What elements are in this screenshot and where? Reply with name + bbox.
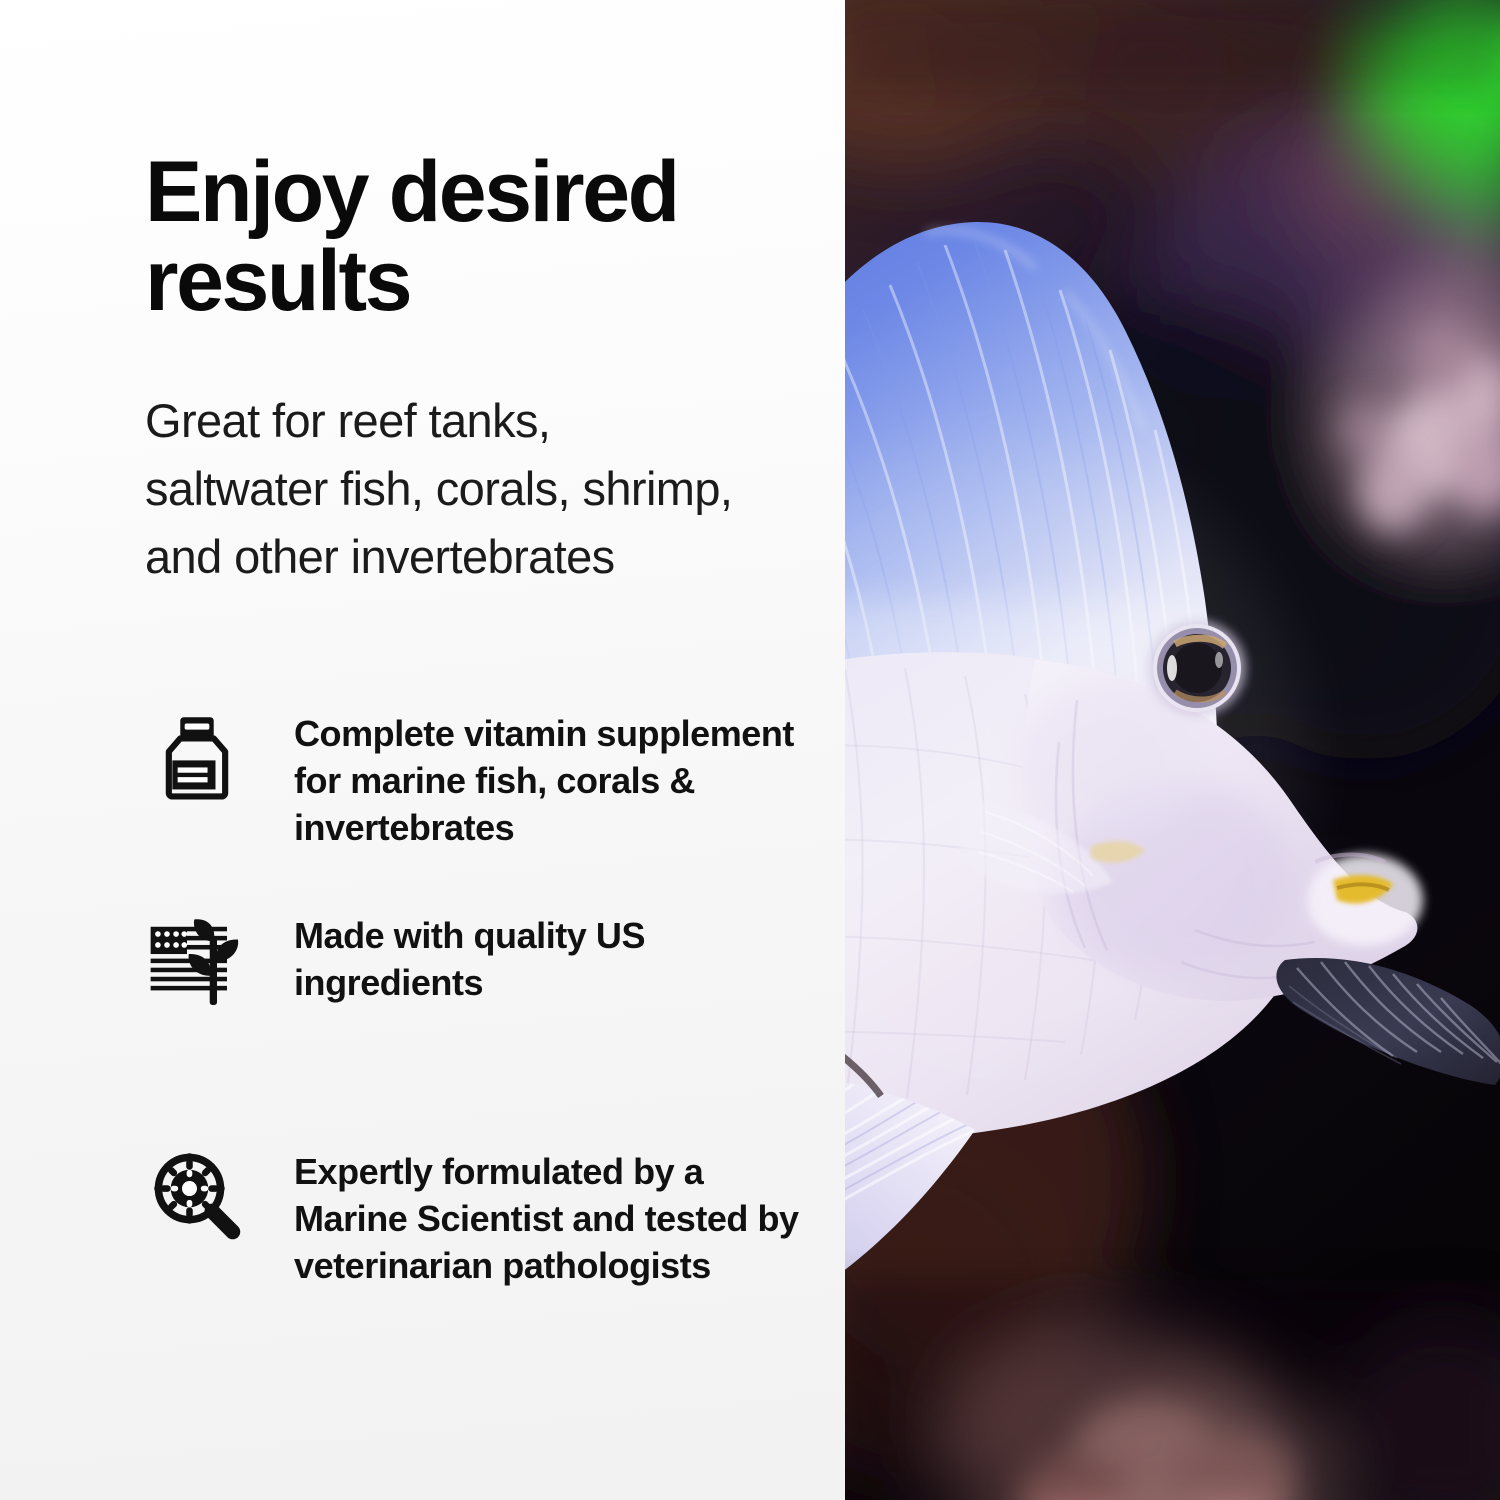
- feature-item-label: Made with quality US ingredients: [294, 910, 804, 1006]
- feature-item-expert-formulation: Expertly formulated by a Marine Scientis…: [145, 1146, 825, 1289]
- supplement-bottle-icon: [145, 708, 249, 812]
- content-panel: Enjoy desired results Great for reef tan…: [0, 0, 845, 1500]
- us-flag-plant-icon: [145, 910, 249, 1014]
- feature-item-us-ingredients: Made with quality US ingredients: [145, 910, 825, 1014]
- product-feature-page: Enjoy desired results Great for reef tan…: [0, 0, 1500, 1500]
- feature-item-vitamin-supplement: Complete vitamin supplement for marine f…: [145, 708, 825, 851]
- feature-item-label: Expertly formulated by a Marine Scientis…: [294, 1146, 804, 1289]
- product-photo: [845, 0, 1500, 1500]
- feature-item-label: Complete vitamin supplement for marine f…: [294, 708, 804, 851]
- page-title: Enjoy desired results: [145, 148, 805, 325]
- magnifier-microbe-icon: [145, 1146, 249, 1250]
- subheading-text: Great for reef tanks, saltwater fish, co…: [145, 387, 745, 590]
- feature-list: Complete vitamin supplement for marine f…: [145, 708, 825, 1289]
